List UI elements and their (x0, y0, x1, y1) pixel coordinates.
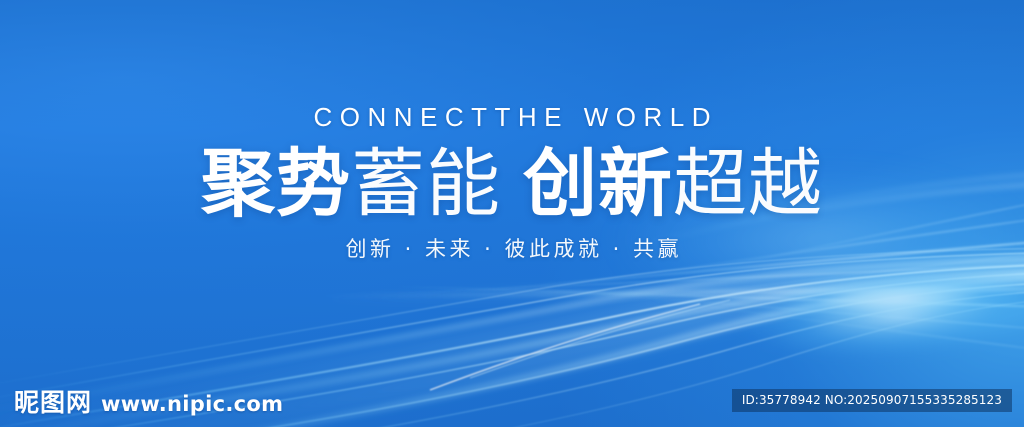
headline-segment-2: 蓄能 (351, 141, 501, 227)
asset-id-badge: ID:35778942 NO:20250907155335285123 (732, 389, 1012, 412)
banner-eyebrow-text: CONNECTTHE WORLD (0, 104, 1024, 130)
headline-segment-4: 超越 (673, 141, 823, 227)
headline-segment-3: 创新 (523, 141, 673, 227)
banner-subline-text: 创新 · 未来 · 彼此成就 · 共赢 (0, 239, 1024, 260)
site-watermark: 昵图网 www.nipic.com (14, 390, 283, 415)
headline-segment-1: 聚势 (201, 141, 351, 227)
banner-headline: 聚势蓄能创新超越 (0, 147, 1024, 221)
promotional-banner: CONNECTTHE WORLD 聚势蓄能创新超越 创新 · 未来 · 彼此成就… (0, 0, 1024, 427)
watermark-site-name: 昵图网 (14, 390, 92, 415)
banner-content: CONNECTTHE WORLD 聚势蓄能创新超越 创新 · 未来 · 彼此成就… (0, 0, 1024, 260)
watermark-site-url: www.nipic.com (101, 394, 283, 415)
